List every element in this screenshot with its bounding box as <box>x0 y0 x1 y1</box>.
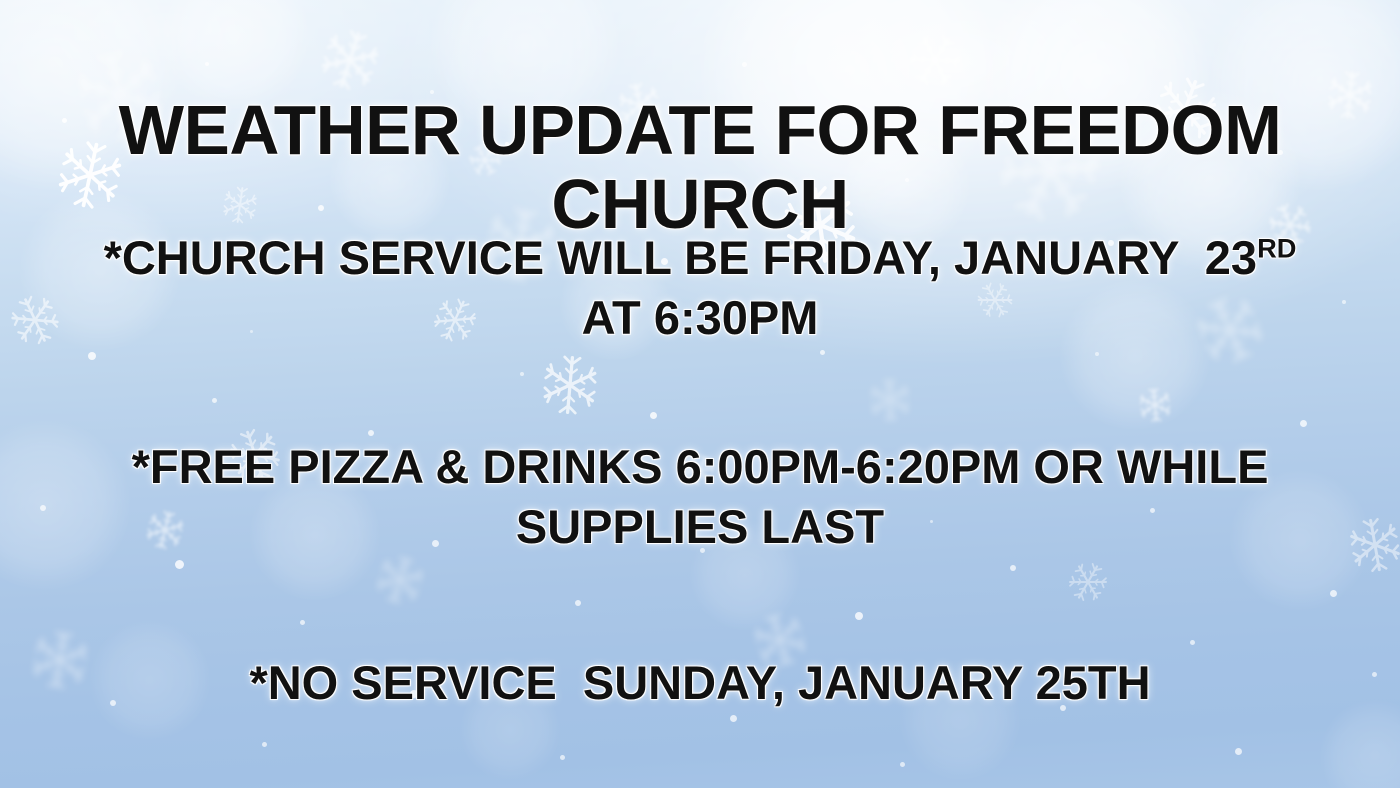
announcement-sunday: *NO SERVICE SUNDAY, JANUARY 25TH <box>70 653 1330 713</box>
ordinal-suffix-rd: RD <box>1257 232 1296 263</box>
announcement-service: *CHURCH SERVICE WILL BE FRIDAY, JANUARY … <box>70 228 1330 348</box>
page-title: WEATHER UPDATE FOR FREEDOM CHURCH <box>7 93 1393 241</box>
announcement-sunday-line1: *NO SERVICE SUNDAY, JANUARY 25TH <box>249 656 1150 709</box>
announcement-service-line1: *CHURCH SERVICE WILL BE FRIDAY, JANUARY … <box>104 231 1297 284</box>
announcement-pizza: *FREE PIZZA & DRINKS 6:00PM-6:20PM OR WH… <box>70 437 1330 557</box>
announcement-service-line2: AT 6:30PM <box>582 291 819 344</box>
announcement-service-line1-text: *CHURCH SERVICE WILL BE FRIDAY, JANUARY … <box>104 231 1257 284</box>
announcement-pizza-line1: *FREE PIZZA & DRINKS 6:00PM-6:20PM OR WH… <box>132 440 1269 493</box>
announcement-pizza-line2: SUPPLIES LAST <box>516 500 884 553</box>
announcement-slide: WEATHER UPDATE FOR FREEDOM CHURCH *CHURC… <box>0 0 1400 788</box>
slide-content: WEATHER UPDATE FOR FREEDOM CHURCH *CHURC… <box>0 0 1400 788</box>
